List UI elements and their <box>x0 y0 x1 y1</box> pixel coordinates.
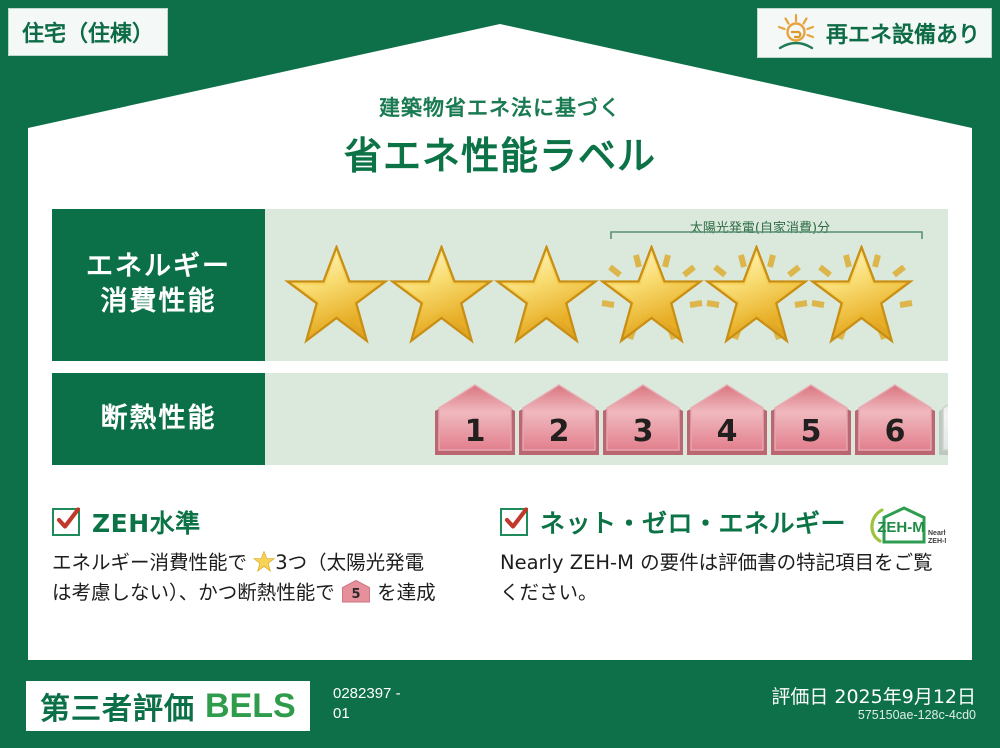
zeh-body-mid: は考慮しない）、かつ断熱性能で <box>52 581 335 604</box>
energy-rating-panel: 太陽光発電(自家消費)分 <box>265 209 948 361</box>
star-5 <box>708 247 806 341</box>
evaluation-date-value: 2025年9月12日 <box>834 686 976 708</box>
checkbox-net-zero-energy[interactable] <box>500 508 528 536</box>
check-zeh-standard: ZEH水準 エネルギー消費性能で 3つ（太陽光発電 は考慮しない）、かつ断熱性能… <box>52 505 500 635</box>
insulation-grade-value: 3 <box>633 414 654 449</box>
insulation-label-text: 断熱性能 <box>101 402 217 437</box>
check-icon <box>55 507 81 533</box>
nze-check-header: ネット・ゼロ・エネルギー ZEH-M Nearly ZEH-M <box>500 505 938 539</box>
insulation-grade-value: 4 <box>717 414 738 449</box>
bels-number-line2: 01 <box>333 704 425 724</box>
zeh-m-logo: ZEH-M Nearly ZEH-M <box>860 504 946 550</box>
star-6-group <box>812 247 912 341</box>
zeh-m-logo-sub2: ZEH-M <box>928 538 946 545</box>
zeh-body-post: を達成 <box>377 581 436 604</box>
zeh-check-body: エネルギー消費性能で 3つ（太陽光発電 は考慮しない）、かつ断熱性能で 5 を達… <box>52 548 490 607</box>
insulation-grade-value: 5 <box>801 414 822 449</box>
checkbox-zeh-standard[interactable] <box>52 508 80 536</box>
nze-check-body: Nearly ZEH-M の要件は評価書の特記項目をご覧ください。 <box>500 548 938 607</box>
renewable-badge-label: 再エネ設備あり <box>826 17 980 49</box>
label-subtitle: 建築物省エネ法に基づく <box>0 92 1000 122</box>
insulation-grade-value: 2 <box>549 414 570 449</box>
criteria-checks: ZEH水準 エネルギー消費性能で 3つ（太陽光発電 は考慮しない）、かつ断熱性能… <box>52 505 948 635</box>
zeh-body-pre: エネルギー消費性能で <box>52 551 247 574</box>
inline-grade-value: 5 <box>351 587 360 602</box>
star-rating <box>265 209 948 361</box>
building-type-tag: 住宅（住棟） <box>8 8 168 56</box>
insulation-grade-6: 6 <box>855 385 935 455</box>
zeh-body-stars: 3つ（太陽光発電 <box>275 551 424 574</box>
star-4 <box>603 247 701 341</box>
nze-check-title: ネット・ゼロ・エネルギー <box>540 504 846 540</box>
star-4-group <box>602 247 702 341</box>
zeh-check-header: ZEH水準 <box>52 505 490 539</box>
insulation-grade-scale: 1234567 <box>265 373 948 465</box>
insulation-grade-5: 5 <box>771 385 851 455</box>
insulation-grade-4: 4 <box>687 385 767 455</box>
evaluation-date-label: 評価日 <box>771 686 828 708</box>
solar-bracket <box>611 232 922 239</box>
building-type-label: 住宅（住棟） <box>22 16 154 48</box>
renewable-equipment-badge: 再エネ設備あり <box>757 8 992 58</box>
energy-performance-label: 住宅（住棟） 再エネ設備あり 建築物省エネ法に基づく 省エネ性能ラベル エネルギ… <box>0 0 1000 748</box>
label-footer: 第三者評価 BELS 0282397 - 01 評価日 2025年9月12日 5… <box>0 670 1000 748</box>
energy-consumption-row: エネルギー 消費性能 太陽光発電(自家消費)分 <box>52 209 948 361</box>
sun-icon <box>774 13 818 53</box>
energy-label-line2: 消費性能 <box>101 285 217 320</box>
check-net-zero-energy: ネット・ゼロ・エネルギー ZEH-M Nearly ZEH-M Nearly Z… <box>500 505 948 635</box>
insulation-grade-7: 7 <box>939 385 948 455</box>
inline-star-icon <box>253 551 275 572</box>
inline-grade-house-icon: 5 <box>341 579 371 604</box>
star-1 <box>288 247 386 341</box>
check-icon <box>503 507 529 533</box>
zeh-m-logo-text: ZEH-M <box>877 519 925 536</box>
star-3 <box>498 247 596 341</box>
zeh-check-title: ZEH水準 <box>92 504 201 540</box>
energy-consumption-label: エネルギー 消費性能 <box>52 209 265 361</box>
insulation-grade-1: 1 <box>435 385 515 455</box>
bels-number: 0282397 - 01 <box>333 684 425 725</box>
document-hash: 575150ae-128c-4cd0 <box>858 708 976 722</box>
insulation-grade-value: 6 <box>885 414 906 449</box>
bels-label: BELS <box>205 687 296 726</box>
star-6 <box>813 247 911 341</box>
star-2 <box>393 247 491 341</box>
bels-number-line1: 0282397 - <box>333 684 425 704</box>
insulation-rating-panel: 1234567 <box>265 373 948 465</box>
insulation-grade-2: 2 <box>519 385 599 455</box>
label-title: 省エネ性能ラベル <box>0 125 1000 180</box>
insulation-grade-3: 3 <box>603 385 683 455</box>
bels-badge: 第三者評価 BELS <box>26 681 310 731</box>
insulation-grade-value: 1 <box>465 414 486 449</box>
third-party-label: 第三者評価 <box>40 684 195 728</box>
energy-label-line1: エネルギー <box>86 250 231 285</box>
zeh-m-logo-sub1: Nearly <box>928 530 946 537</box>
insulation-label: 断熱性能 <box>52 373 265 465</box>
insulation-performance-row: 断熱性能 1234567 <box>52 373 948 465</box>
evaluation-date: 評価日 2025年9月12日 <box>771 682 976 709</box>
star-5-group <box>707 247 807 341</box>
